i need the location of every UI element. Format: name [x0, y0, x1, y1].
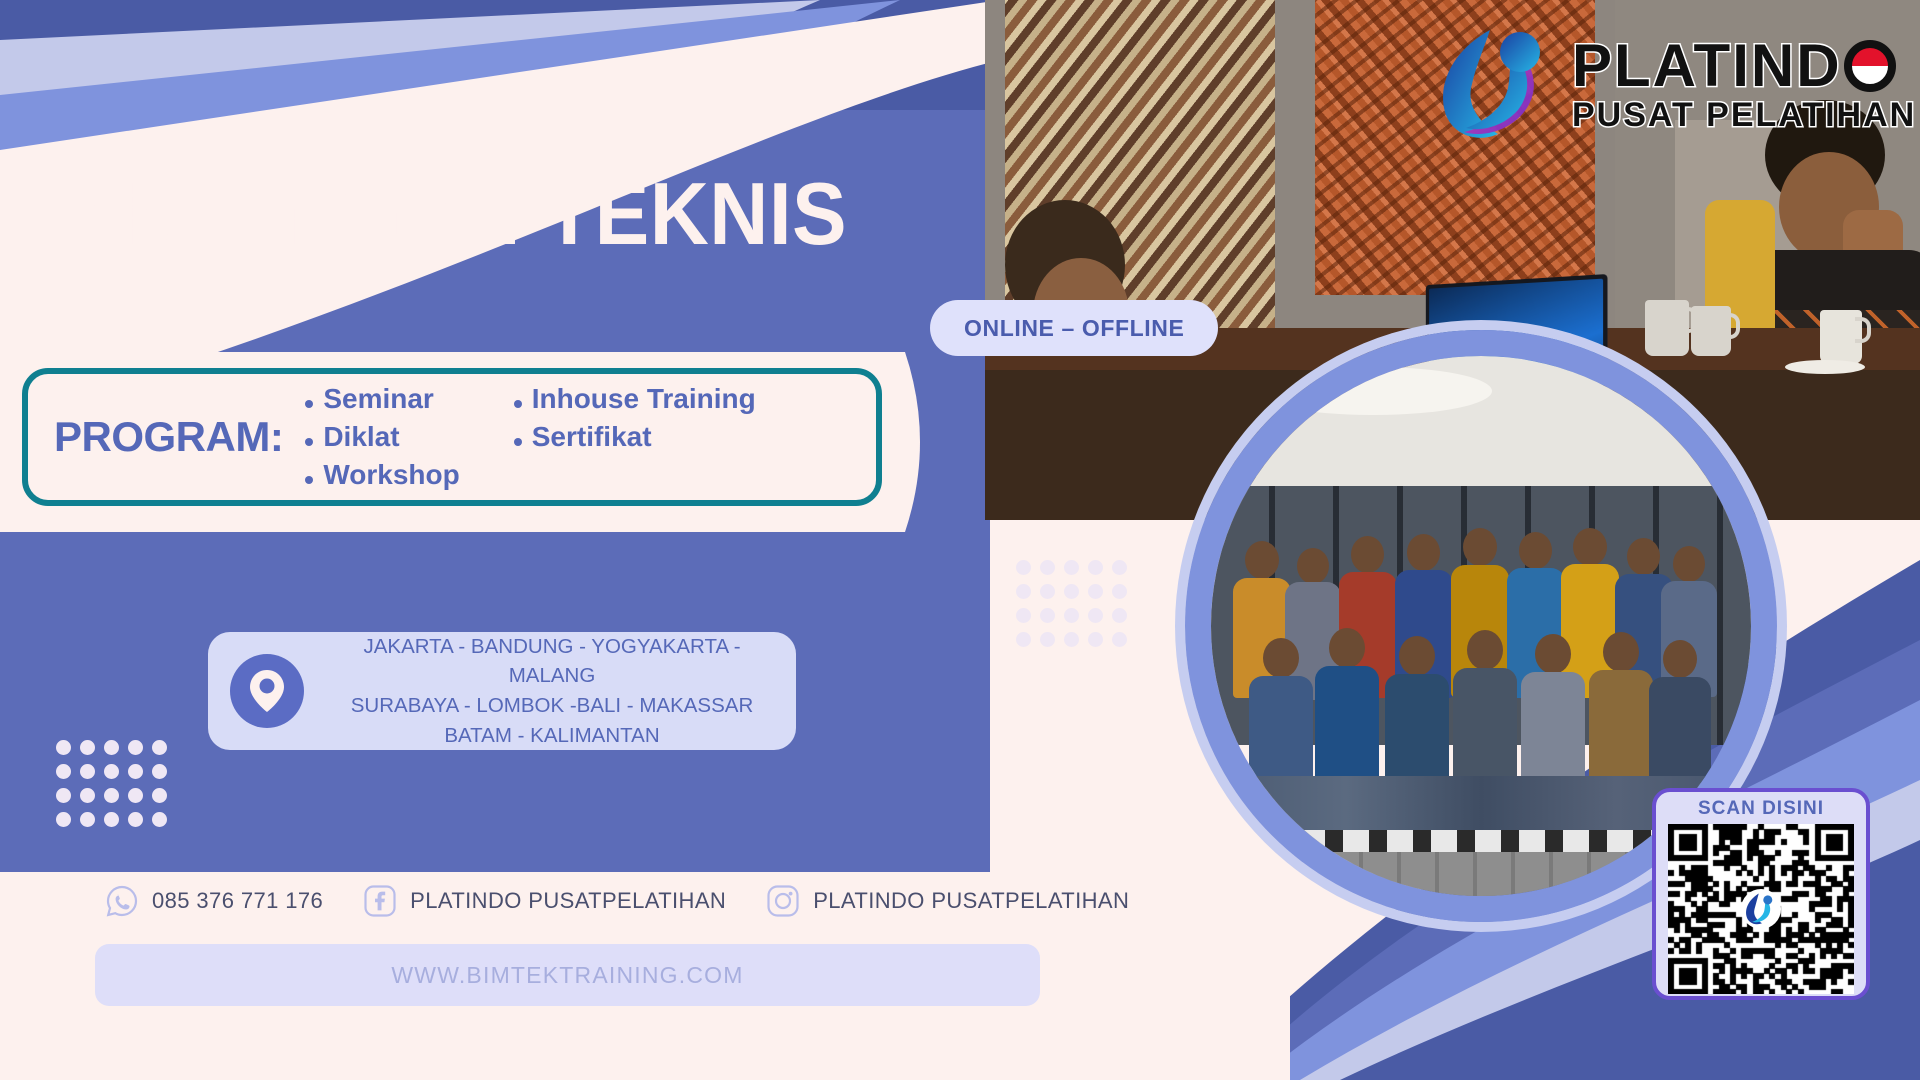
bullet-icon: [305, 438, 313, 446]
mode-badge-label: ONLINE – OFFLINE: [964, 315, 1184, 342]
bullet-icon: [305, 476, 313, 484]
location-line: SURABAYA - LOMBOK -BALI - MAKASSAR: [326, 691, 778, 721]
poster-canvas: PLATIND PUSAT PELATIHAN BIMBINGAN TEKNIS…: [0, 0, 1920, 1080]
contact-facebook[interactable]: PLATINDO PUSATPELATIHAN: [363, 884, 726, 918]
contact-label: PLATINDO PUSATPELATIHAN: [813, 888, 1129, 914]
contact-list: 085 376 771 176 PLATINDO PUSATPELATIHAN …: [105, 884, 1129, 918]
program-column-two: Inhouse Training Sertifikat: [514, 383, 756, 491]
footer: 085 376 771 176 PLATINDO PUSATPELATIHAN …: [0, 860, 1280, 1080]
logo-tagline: PUSAT PELATIHAN: [1572, 98, 1916, 132]
mode-badge: ONLINE – OFFLINE: [930, 300, 1218, 356]
qr-center-logo-icon: [1740, 888, 1782, 930]
contact-label: PLATINDO PUSATPELATIHAN: [410, 888, 726, 914]
program-box: PROGRAM: Seminar Diklat Workshop: [22, 368, 882, 506]
locations-text: JAKARTA - BANDUNG - YOGYAKARTA - MALANG …: [326, 632, 796, 751]
instagram-icon: [766, 884, 800, 918]
program-column-one: Seminar Diklat Workshop: [305, 383, 459, 491]
logo-wordmark: PLATIND: [1572, 36, 1842, 96]
page-title: BIMBINGAN TEKNIS: [44, 170, 847, 258]
map-pin-icon: [230, 654, 304, 728]
bullet-icon: [305, 400, 313, 408]
program-item: Diklat: [305, 421, 459, 453]
program-item-label: Inhouse Training: [532, 383, 756, 415]
facebook-icon: [363, 884, 397, 918]
bullet-icon: [514, 438, 522, 446]
location-line: JAKARTA - BANDUNG - YOGYAKARTA - MALANG: [326, 632, 778, 691]
website-label: WWW.BIMTEKTRAINING.COM: [391, 962, 743, 989]
qr-code[interactable]: [1668, 824, 1854, 994]
program-item: Sertifikat: [514, 421, 756, 453]
program-item: Seminar: [305, 383, 459, 415]
program-item-label: Workshop: [323, 459, 459, 491]
location-line: BATAM - KALIMANTAN: [326, 721, 778, 751]
dot-grid-right: [1016, 560, 1127, 647]
program-item-label: Diklat: [323, 421, 399, 453]
platindo-mark-icon: [1432, 22, 1562, 146]
program-label: PROGRAM:: [54, 413, 283, 461]
platindo-logo: PLATIND PUSAT PELATIHAN: [1432, 22, 1916, 146]
dot-grid-left: [56, 740, 167, 827]
contact-label: 085 376 771 176: [152, 888, 323, 914]
indonesia-flag-icon: [1844, 40, 1896, 92]
program-item: Workshop: [305, 459, 459, 491]
whatsapp-icon: [105, 884, 139, 918]
qr-title: SCAN DISINI: [1698, 798, 1824, 820]
qr-card[interactable]: SCAN DISINI: [1652, 788, 1870, 1000]
contact-whatsapp[interactable]: 085 376 771 176: [105, 884, 323, 918]
program-item: Inhouse Training: [514, 383, 756, 415]
website-bar[interactable]: WWW.BIMTEKTRAINING.COM: [95, 944, 1040, 1006]
bullet-icon: [514, 400, 522, 408]
locations-badge: JAKARTA - BANDUNG - YOGYAKARTA - MALANG …: [208, 632, 796, 750]
contact-instagram[interactable]: PLATINDO PUSATPELATIHAN: [766, 884, 1129, 918]
program-item-label: Seminar: [323, 383, 434, 415]
program-item-label: Sertifikat: [532, 421, 652, 453]
